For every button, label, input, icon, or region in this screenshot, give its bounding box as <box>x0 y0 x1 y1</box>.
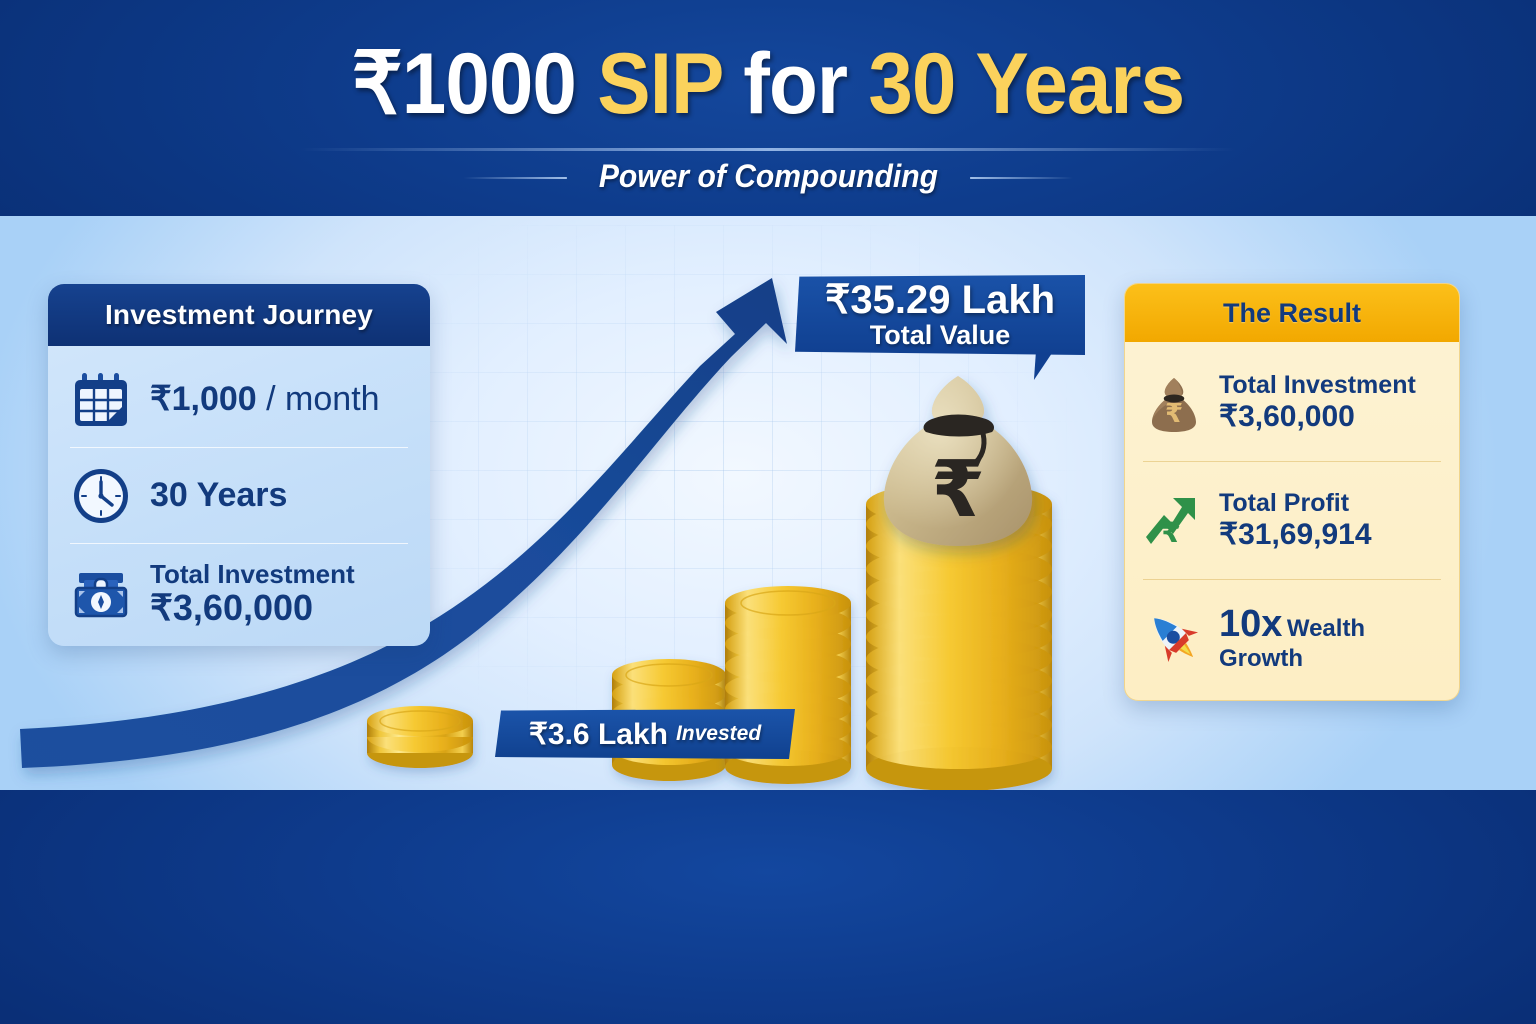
monthly-amount: ₹1,000 <box>150 380 257 418</box>
result-profit-value: ₹31,69,914 <box>1219 518 1372 551</box>
journey-row-monthly-text: ₹1,000 / month <box>150 381 380 417</box>
total-value-amount: ₹35.29 Lakh <box>795 279 1085 321</box>
title-part-4: 30 Years <box>868 36 1184 132</box>
result-row-profit: ₹ Total Profit ₹31,69,914 <box>1143 462 1441 580</box>
coin-stack-1 <box>367 706 473 768</box>
invested-banner: ₹3.6 Lakh Invested <box>495 709 795 759</box>
total-investment-label: Total Investment <box>150 561 355 589</box>
result-investment-label: Total Investment <box>1219 372 1416 400</box>
money-bag-icon: ₹ <box>1143 372 1205 434</box>
result-row-investment-text: Total Investment ₹3,60,000 <box>1219 372 1416 433</box>
title-part-2: SIP <box>597 36 743 132</box>
invested-amount: ₹3.6 Lakh <box>529 717 668 752</box>
title-part-3: for <box>743 36 868 132</box>
rocket-icon <box>1143 607 1205 669</box>
growth-multiplier: 10x <box>1219 603 1282 645</box>
svg-text:₹: ₹ <box>931 445 985 535</box>
result-investment-value: ₹3,60,000 <box>1219 400 1416 433</box>
investment-journey-card: Investment Journey <box>48 284 430 646</box>
clock-icon <box>70 465 132 527</box>
result-row-investment: ₹ Total Investment ₹3,60,000 <box>1143 344 1441 462</box>
growth-label-line2: Growth <box>1219 646 1365 672</box>
result-row-growth-text: 10x Wealth Growth <box>1219 604 1365 672</box>
footer-band: ₹1000 → ₹35 Lakh in 30 Years! Consistenc… <box>0 790 1536 1024</box>
total-investment-value: ₹3,60,000 <box>150 589 355 627</box>
svg-text:₹: ₹ <box>1161 516 1180 549</box>
money-bag-icon: ₹ <box>884 376 1032 546</box>
svg-text:₹: ₹ <box>1165 399 1183 429</box>
calendar-icon <box>70 369 132 431</box>
monthly-suffix: / month <box>257 380 380 418</box>
journey-card-heading: Investment Journey <box>48 284 430 346</box>
result-rows: ₹ Total Investment ₹3,60,000 ₹ <box>1125 342 1459 696</box>
invested-caption: Invested <box>676 722 761 746</box>
page-subtitle: Power of Compounding <box>565 158 972 195</box>
journey-row-monthly: ₹1,000 / month <box>70 352 408 448</box>
result-card-heading: The Result <box>1125 284 1459 342</box>
infographic-poster: ₹1000 SIP for 30 Years Power of Compound… <box>0 0 1536 1024</box>
result-row-growth: 10x Wealth Growth <box>1143 580 1441 696</box>
title-part-1: ₹1000 <box>352 36 597 132</box>
subtitle-wrap: Power of Compounding <box>0 158 1536 195</box>
growth-label-line1: Wealth <box>1287 615 1365 642</box>
title-divider <box>300 148 1236 151</box>
duration-value: 30 Years <box>150 476 287 514</box>
journey-rows: ₹1,000 / month <box>48 346 430 644</box>
total-value-callout: ₹35.29 Lakh Total Value <box>795 275 1085 355</box>
cash-box-icon <box>70 563 132 625</box>
result-profit-label: Total Profit <box>1219 490 1372 518</box>
green-rupee-arrow-icon: ₹ <box>1143 490 1205 552</box>
journey-row-total: Total Investment ₹3,60,000 <box>70 544 408 644</box>
header-band: ₹1000 SIP for 30 Years Power of Compound… <box>0 0 1536 216</box>
page-title: ₹1000 SIP for 30 Years <box>54 34 1482 134</box>
journey-row-duration-text: 30 Years <box>150 477 287 513</box>
journey-row-total-text: Total Investment ₹3,60,000 <box>150 561 355 627</box>
journey-row-duration: 30 Years <box>70 448 408 544</box>
result-card: The Result ₹ Total Investment ₹3,60,000 <box>1124 283 1460 701</box>
total-value-caption: Total Value <box>795 321 1085 349</box>
result-row-profit-text: Total Profit ₹31,69,914 <box>1219 490 1372 551</box>
